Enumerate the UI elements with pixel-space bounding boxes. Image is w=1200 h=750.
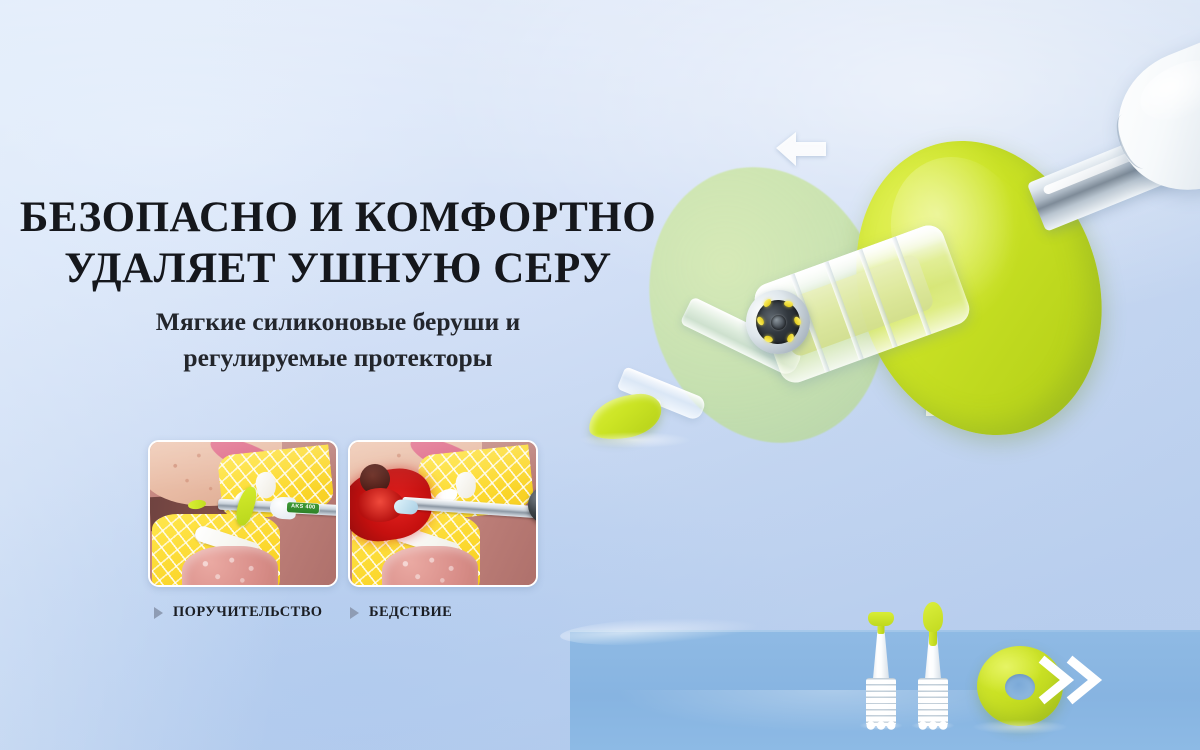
comparison-section: AKS 400 [148,440,538,621]
comparison-card-harm[interactable] [348,440,538,587]
double-chevron-right-icon[interactable] [1037,652,1107,708]
subheadline-block: Мягкие силиконовые беруши и регулируемые… [0,304,676,376]
caption-harm-label: БЕДСТВИЕ [369,604,452,621]
silicone-ring-hole [1005,674,1035,700]
tool-grip-ridges [918,678,948,726]
tool-grip-ridges [866,678,896,726]
flat-tip-cap [868,612,894,626]
accessories-group [855,575,1105,740]
device-model-badge: AKS 400 [287,502,320,514]
subheadline-line-1: Мягкие силиконовые беруши и [0,304,676,340]
camera-lens [771,315,786,330]
comparison-cards: AKS 400 [148,440,538,587]
ear-anatomy-illustration-safe: AKS 400 [150,442,336,585]
subheadline-line-2: регулируемые протекторы [0,340,676,376]
caption-safe: ПОРУЧИТЕЛЬСТВО [154,604,350,621]
comparison-card-safe[interactable]: AKS 400 [148,440,338,587]
headline-block: БЕЗОПАСНО И КОМФОРТНО УДАЛЯЕТ УШНУЮ СЕРУ… [0,192,676,376]
caption-safe-label: ПОРУЧИТЕЛЬСТВО [173,604,323,621]
triangle-right-icon [350,607,359,619]
silicone-ring-reflection [973,720,1067,734]
headline-line-2: УДАЛЯЕТ УШНУЮ СЕРУ [0,243,676,294]
comparison-captions: ПОРУЧИТЕЛЬСТВО БЕДСТВИЕ [148,604,538,621]
tool-reflection [911,721,955,730]
arrow-icon [774,130,830,178]
rigid-probe-tip [394,499,419,515]
caption-harm: БЕДСТВИЕ [350,604,452,621]
tool-reflection [859,721,903,730]
triangle-right-icon [154,607,163,619]
spoon-tip-cap [923,602,943,632]
headline-line-1: БЕЗОПАСНО И КОМФОРТНО [0,192,676,243]
ear-anatomy-illustration-harm [350,442,536,585]
tip-reflection [580,432,690,448]
banner-stage: БЕЗОПАСНО И КОМФОРТНО УДАЛЯЕТ УШНУЮ СЕРУ… [0,0,1200,750]
